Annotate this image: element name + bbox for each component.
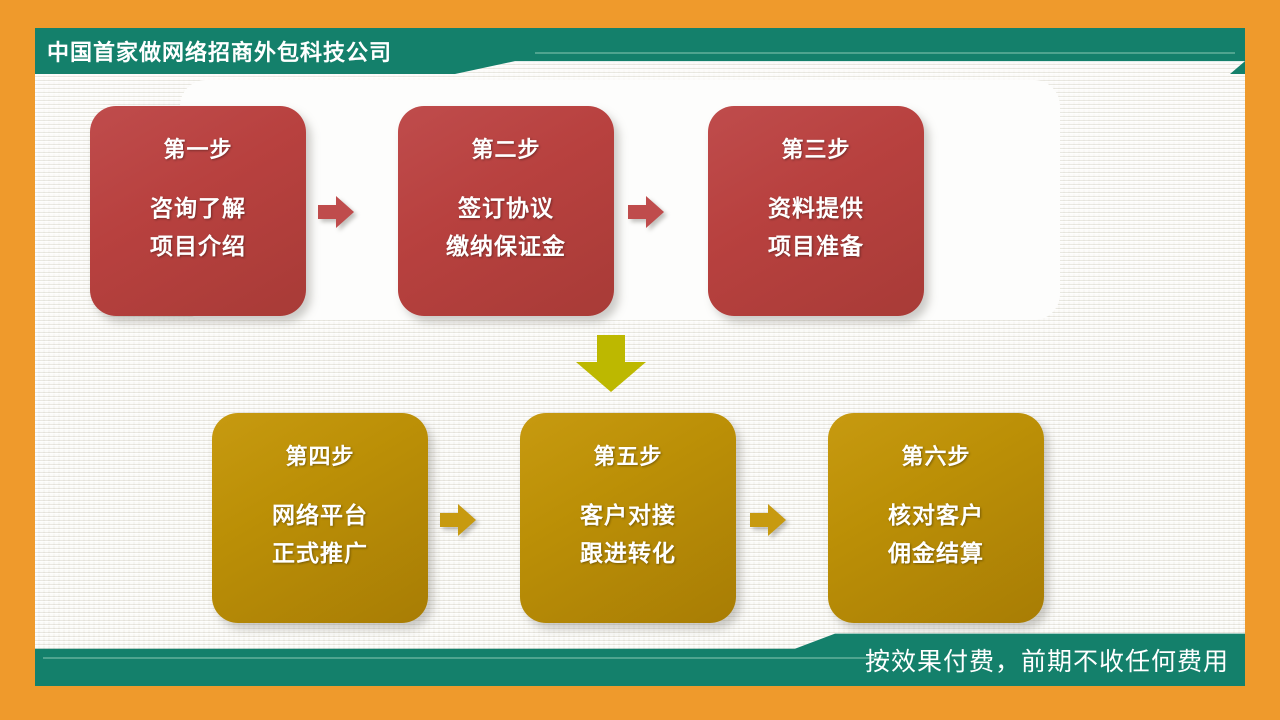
arrow-right-icon xyxy=(318,195,354,229)
footer-tagline: 按效果付费，前期不收任何费用 xyxy=(865,642,1229,678)
step-card-3-line1: 资料提供 xyxy=(768,190,864,228)
page-title: 中国首家做网络招商外包科技公司 xyxy=(47,35,392,67)
step-card-2-line2: 缴纳保证金 xyxy=(446,228,566,266)
step-card-5-line1: 客户对接 xyxy=(580,497,676,535)
slide-root: 中国首家做网络招商外包科技公司 第一步 咨询了解 项目介绍 第二步 签订协议 缴… xyxy=(0,0,1280,720)
arrow-right-icon xyxy=(628,195,664,229)
arrow-down-icon xyxy=(575,335,647,393)
step-card-4-line2: 正式推广 xyxy=(272,535,368,573)
step-card-4-body: 网络平台 正式推广 xyxy=(272,497,368,573)
top-row-panel xyxy=(180,80,1060,320)
step-card-1-body: 咨询了解 项目介绍 xyxy=(150,190,246,266)
slide-canvas: 中国首家做网络招商外包科技公司 第一步 咨询了解 项目介绍 第二步 签订协议 缴… xyxy=(35,28,1245,686)
step-card-6-title: 第六步 xyxy=(901,439,970,471)
step-card-6[interactable]: 第六步 核对客户 佣金结算 xyxy=(828,413,1044,623)
step-card-2-body: 签订协议 缴纳保证金 xyxy=(446,190,566,266)
arrow-right-icon xyxy=(750,503,786,537)
step-card-5-body: 客户对接 跟进转化 xyxy=(580,497,676,573)
footer-accent-line xyxy=(43,657,883,659)
arrow-right-icon xyxy=(440,503,476,537)
step-card-1-title: 第一步 xyxy=(163,132,232,164)
step-card-4-line1: 网络平台 xyxy=(272,497,368,535)
step-card-1[interactable]: 第一步 咨询了解 项目介绍 xyxy=(90,106,306,316)
step-card-6-line2: 佣金结算 xyxy=(888,535,984,573)
step-card-4[interactable]: 第四步 网络平台 正式推广 xyxy=(212,413,428,623)
step-card-3-body: 资料提供 项目准备 xyxy=(768,190,864,266)
step-card-4-title: 第四步 xyxy=(285,439,354,471)
step-card-5-line2: 跟进转化 xyxy=(580,535,676,573)
step-card-2[interactable]: 第二步 签订协议 缴纳保证金 xyxy=(398,106,614,316)
step-card-1-line1: 咨询了解 xyxy=(150,190,246,228)
step-card-2-line1: 签订协议 xyxy=(446,190,566,228)
header-accent-line xyxy=(535,52,1235,54)
step-card-1-line2: 项目介绍 xyxy=(150,228,246,266)
step-card-6-line1: 核对客户 xyxy=(888,497,984,535)
step-card-3-title: 第三步 xyxy=(781,132,850,164)
step-card-2-title: 第二步 xyxy=(471,132,540,164)
step-card-3[interactable]: 第三步 资料提供 项目准备 xyxy=(708,106,924,316)
step-card-3-line2: 项目准备 xyxy=(768,228,864,266)
step-card-5-title: 第五步 xyxy=(593,439,662,471)
step-card-5[interactable]: 第五步 客户对接 跟进转化 xyxy=(520,413,736,623)
step-card-6-body: 核对客户 佣金结算 xyxy=(888,497,984,573)
